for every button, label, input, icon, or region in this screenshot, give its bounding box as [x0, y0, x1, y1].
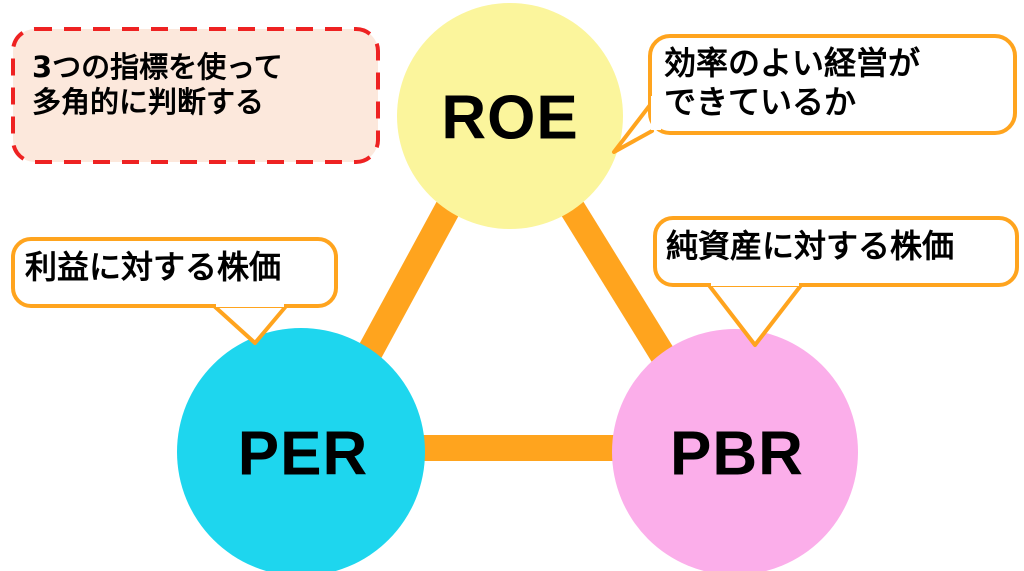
connector-roe-per [360, 208, 448, 370]
callout-box-per-note[interactable] [13, 239, 336, 306]
callout-overview-line-1: 3つの指標を使って [32, 50, 283, 85]
callout-text-roe-note: 効率のよい経営が できているか [664, 44, 920, 122]
callout-overview-line-2: 多角的に判断する [32, 85, 283, 120]
diagram-canvas: ROE PER PBR 3つの指標を使って 多角的に判断する 効率のよい経営が … [0, 0, 1024, 571]
callout-roe-line-2: できているか [664, 83, 920, 122]
node-circle-roe[interactable] [397, 3, 623, 229]
tail-seam-mask-per [216, 300, 284, 307]
node-circle-pbr[interactable] [612, 329, 858, 571]
callout-box-pbr-note[interactable] [655, 218, 1017, 285]
callout-text-overview: 3つの指標を使って 多角的に判断する [32, 50, 283, 121]
tail-seam-mask-roe [651, 96, 661, 130]
node-circle-per[interactable] [177, 328, 425, 571]
callout-roe-line-1: 効率のよい経営が [664, 44, 920, 83]
tail-seam-mask-pbr [711, 279, 799, 286]
